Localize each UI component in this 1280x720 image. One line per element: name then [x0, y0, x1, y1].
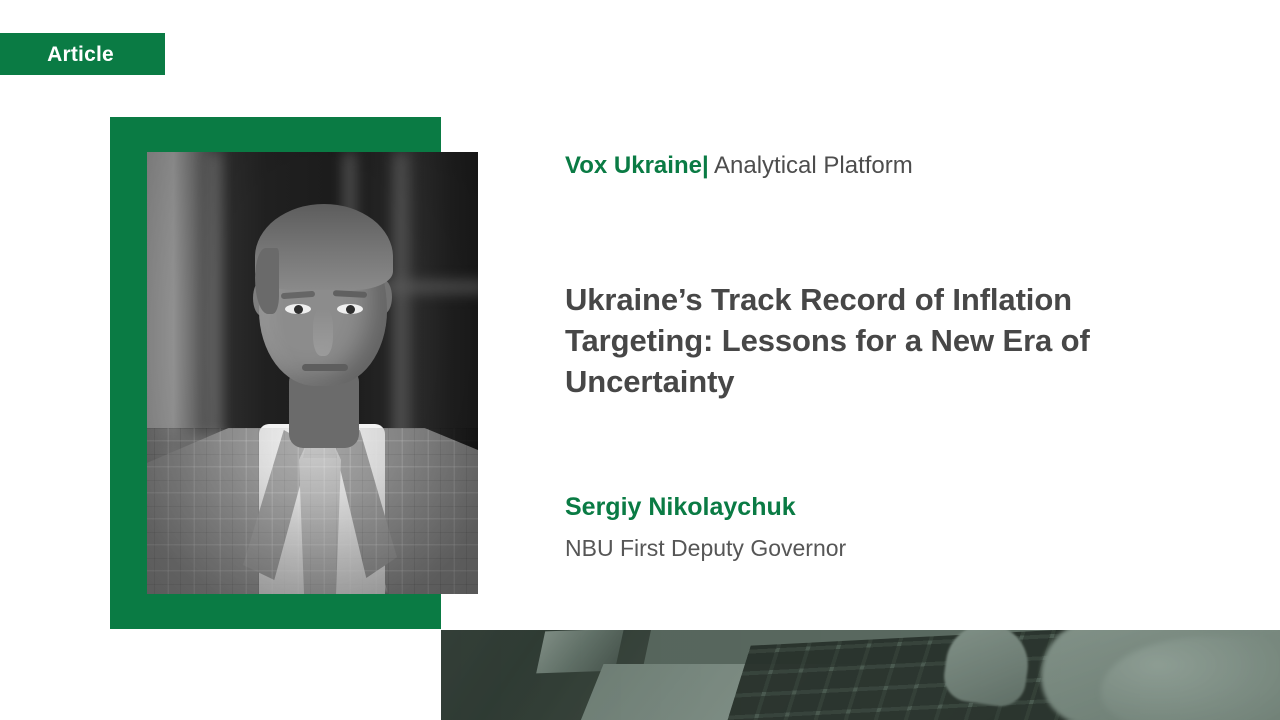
author-role: NBU First Deputy Governor — [565, 533, 846, 563]
article-badge: Article — [0, 33, 165, 75]
article-title-slide: Article — [0, 0, 1280, 720]
publisher-separator: | — [702, 152, 709, 179]
portrait-image — [147, 152, 478, 594]
publisher-tagline: Analytical Platform — [714, 152, 913, 179]
page-title: Ukraine’s Track Record of Inflation Targ… — [565, 279, 1125, 402]
article-badge-label: Article — [47, 44, 118, 65]
portrait-photo — [147, 152, 478, 594]
publisher-brand: Vox Ukraine — [565, 152, 702, 179]
publisher-line: Vox Ukraine| Analytical Platform — [565, 151, 913, 181]
portrait-vignette — [147, 152, 478, 594]
author-name: Sergiy Nikolaychuk — [565, 492, 796, 523]
text-column: Vox Ukraine| Analytical Platform Ukraine… — [565, 0, 1225, 720]
